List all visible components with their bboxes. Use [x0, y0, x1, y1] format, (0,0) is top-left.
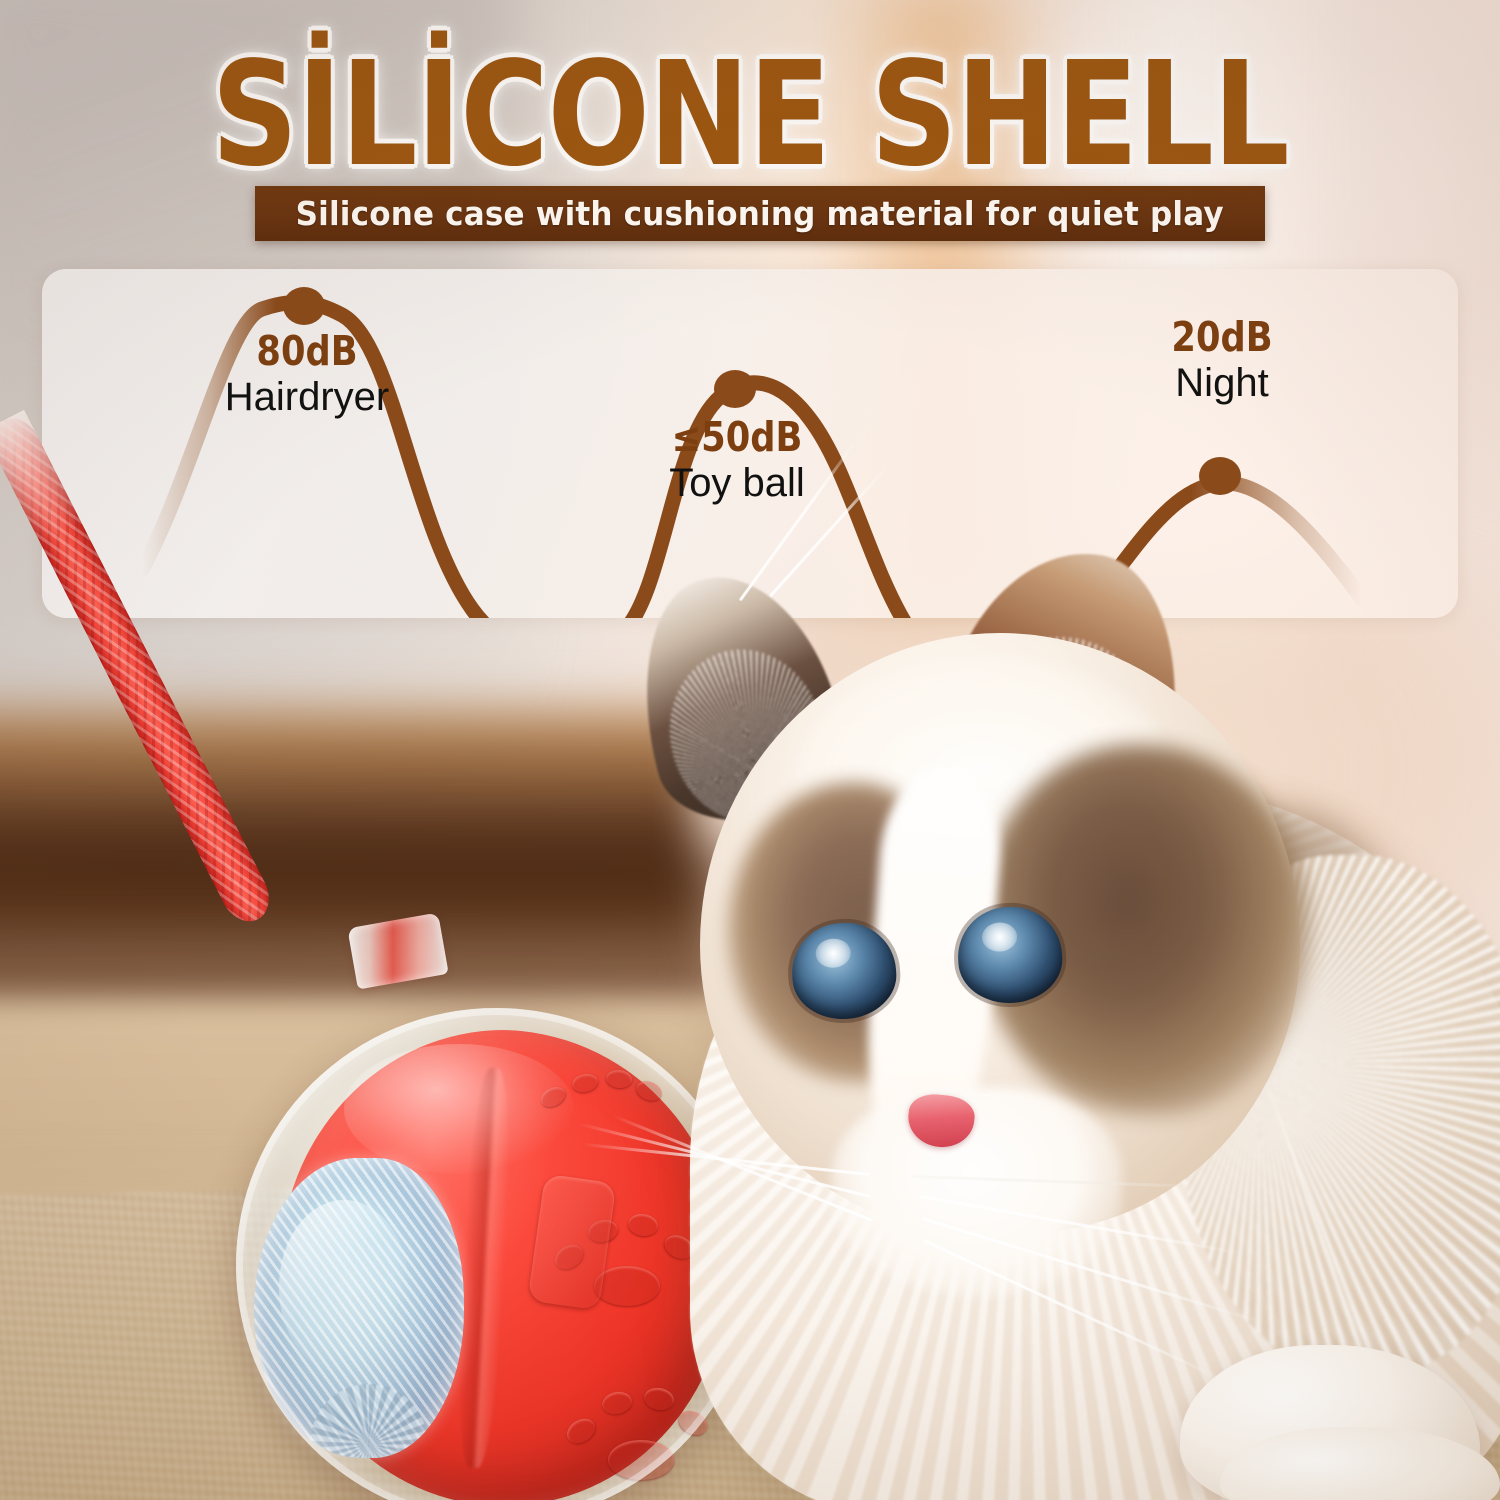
- subtitle-text: Silicone case with cushioning material f…: [296, 194, 1224, 233]
- marker-dot-hairdryer: [283, 287, 325, 325]
- product-infographic: SİLİCONE SHELL Silicone case with cushio…: [0, 0, 1500, 1500]
- marker-dot-toy-ball: [714, 370, 756, 408]
- subtitle-banner: Silicone case with cushioning material f…: [255, 186, 1265, 241]
- ragdoll-cat: [620, 555, 1500, 1500]
- page-title: SİLİCONE SHELL: [0, 42, 1500, 186]
- marker-dot-night: [1199, 457, 1241, 495]
